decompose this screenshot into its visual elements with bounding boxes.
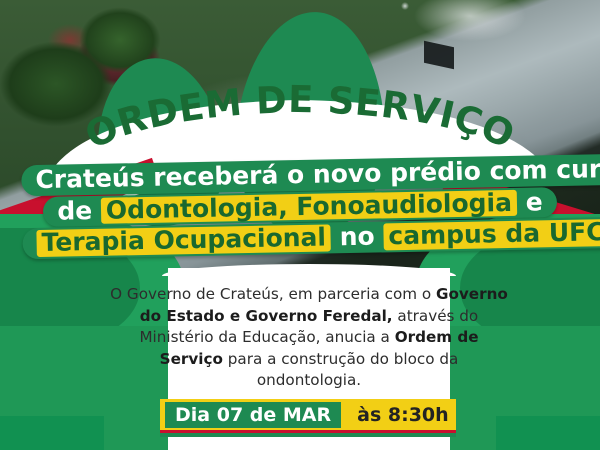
- headline-line-2-post: e: [525, 187, 543, 216]
- headline-campus-highlight: campus da UFC: [383, 219, 600, 250]
- headline-line-3-mid: no: [339, 222, 375, 252]
- date-day-badge: Dia 07 de MAR: [165, 402, 341, 428]
- headline-terapia-highlight: Terapia Ocupacional: [36, 224, 331, 256]
- headline-courses-highlight: Odontologia, Fonoaudiologia: [101, 189, 518, 223]
- headline-line-2-pre: de: [57, 195, 92, 225]
- body-paragraph: O Governo de Crateús, em parceria com o …: [110, 284, 508, 392]
- bottom-corner-block-right: [496, 416, 600, 450]
- body-line-2-tail: para a construção do: [228, 350, 389, 368]
- poster-canvas: ORDEM DE SERVIÇO Crateús receberá o novo…: [0, 0, 600, 450]
- headline-block: Crateús receberá o novo prédio com curso…: [21, 155, 579, 260]
- bottom-corner-block-left: [0, 416, 104, 450]
- date-time-label: às 8:30h: [341, 404, 449, 426]
- date-bar-underline: [160, 430, 456, 437]
- date-bar: Dia 07 de MAR às 8:30h: [160, 399, 456, 430]
- body-line-1-plain: O Governo de Crateús, em parceria com o: [110, 285, 431, 303]
- building-opening: [424, 41, 454, 69]
